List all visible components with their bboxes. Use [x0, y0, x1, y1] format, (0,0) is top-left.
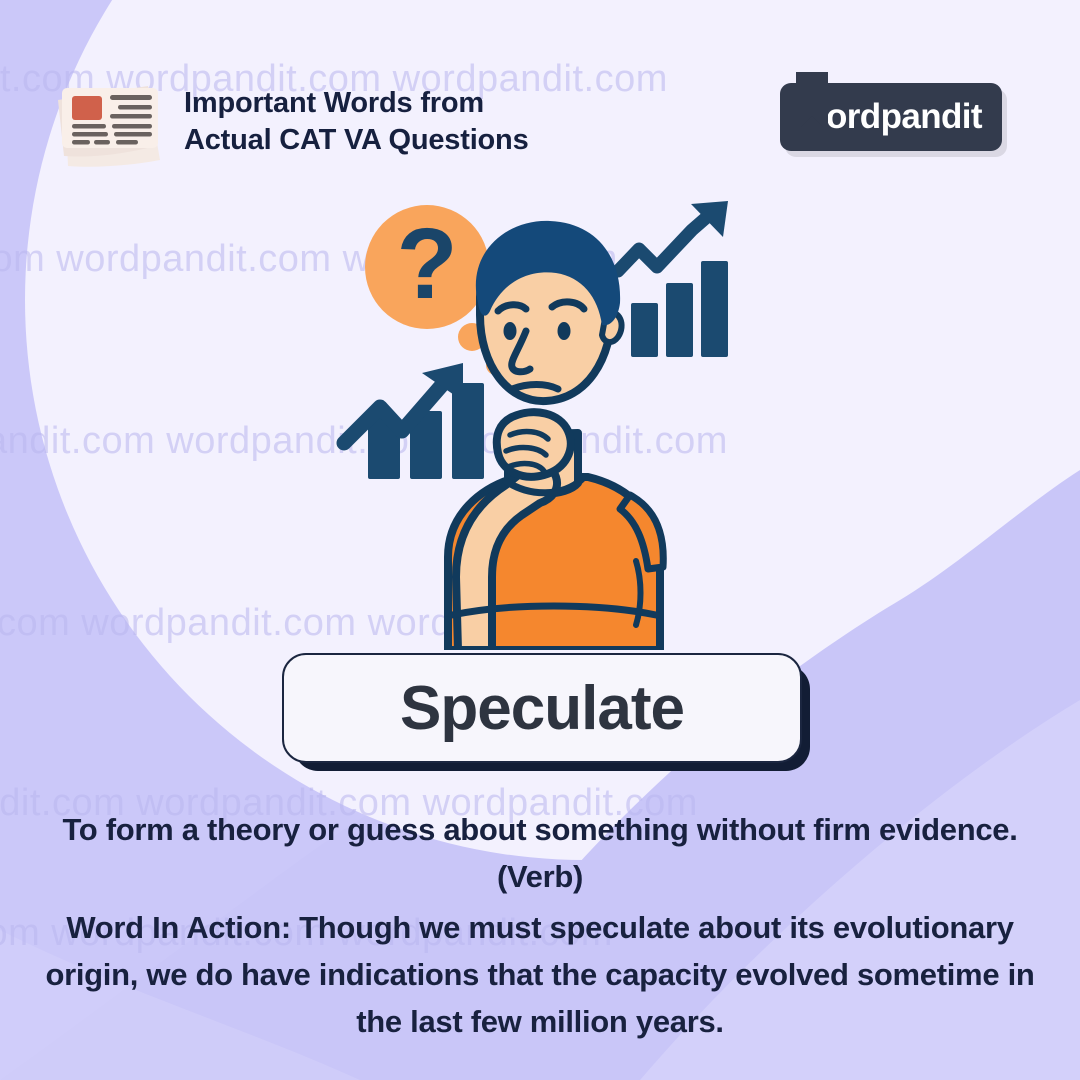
- wordpandit-logo[interactable]: ordpandit: [780, 83, 1002, 151]
- logo-text: ordpandit: [826, 97, 982, 137]
- thinking-man-illustration: ?: [330, 185, 760, 650]
- vocabulary-word: Speculate: [400, 673, 684, 744]
- word-card-face: Speculate: [282, 653, 802, 763]
- illustration-svg: ?: [330, 185, 760, 650]
- header: Important Words from Actual CAT VA Quest…: [48, 74, 529, 170]
- poster-root: wordpandit.com wordpandit.com wordpandit…: [0, 0, 1080, 1080]
- newspaper-icon: [48, 74, 170, 170]
- man-eye-right: [558, 322, 571, 340]
- definition-meaning: To form a theory or guess about somethin…: [22, 806, 1058, 900]
- bookmark-w-icon: [790, 70, 834, 136]
- growth-chart-left-icon: [344, 363, 484, 479]
- question-mark-glyph: ?: [396, 208, 457, 320]
- word-card: Speculate: [282, 653, 798, 759]
- header-title: Important Words from Actual CAT VA Quest…: [184, 85, 529, 159]
- man-eye-left: [504, 322, 517, 340]
- definition-usage: Word In Action: Though we must speculate…: [22, 904, 1058, 1045]
- definition-block: To form a theory or guess about somethin…: [22, 806, 1058, 1046]
- growth-chart-right-icon: [618, 201, 728, 357]
